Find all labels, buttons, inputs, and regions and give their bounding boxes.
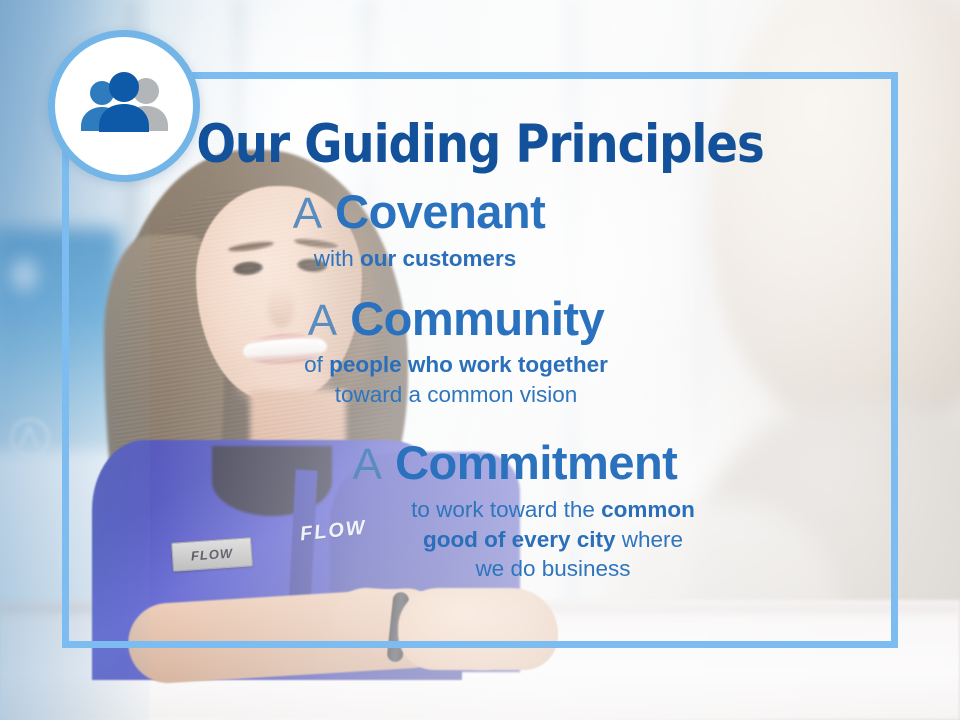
- principle-subtext-covenant: with our customers: [92, 244, 868, 274]
- principle-subtext-community: of people who work together toward a com…: [92, 350, 868, 410]
- principle-keyword: Community: [350, 292, 604, 345]
- subtext-part: toward a common vision: [335, 382, 578, 407]
- page-title: Our Guiding Principles: [139, 90, 822, 171]
- subtext-part: of: [304, 352, 329, 377]
- subtext-line: good of every city where: [242, 525, 864, 555]
- poster: FLOW FLOW Our Guiding Principles A Coven…: [0, 0, 960, 720]
- principle-article: A: [293, 189, 322, 238]
- subtext-part-bold: people who work together: [329, 352, 608, 377]
- principle-headline-community: A Community: [92, 294, 868, 345]
- principle-covenant: A Covenant with our customers: [92, 187, 868, 274]
- subtext-line: toward a common vision: [92, 380, 820, 410]
- subtext-part: we do business: [475, 556, 630, 581]
- subtext-part-bold: common: [601, 497, 695, 522]
- subtext-part-bold: good of every city: [423, 527, 616, 552]
- content-area: Our Guiding Principles A Covenant with o…: [62, 72, 898, 648]
- subtext-line: to work toward the common: [242, 495, 864, 525]
- principle-headline-covenant: A Covenant: [92, 187, 868, 238]
- principle-commitment: A Commitment to work toward the common g…: [92, 438, 868, 584]
- subtext-part: to work toward the: [411, 497, 601, 522]
- subtext-line: with our customers: [92, 244, 738, 274]
- subtext-part: with: [314, 246, 360, 271]
- principle-keyword: Commitment: [395, 436, 677, 489]
- people-badge: [48, 30, 200, 182]
- people-group-icon: [76, 69, 172, 143]
- principle-article: A: [353, 440, 382, 489]
- subtext-line: of people who work together: [92, 350, 820, 380]
- principle-subtext-commitment: to work toward the common good of every …: [92, 495, 868, 585]
- principle-keyword: Covenant: [335, 185, 545, 238]
- subtext-part-bold: our customers: [360, 246, 516, 271]
- principle-headline-commitment: A Commitment: [92, 438, 868, 489]
- subtext-part: where: [616, 527, 684, 552]
- principle-community: A Community of people who work together …: [92, 294, 868, 410]
- subtext-line: we do business: [242, 554, 864, 584]
- principle-article: A: [308, 296, 337, 345]
